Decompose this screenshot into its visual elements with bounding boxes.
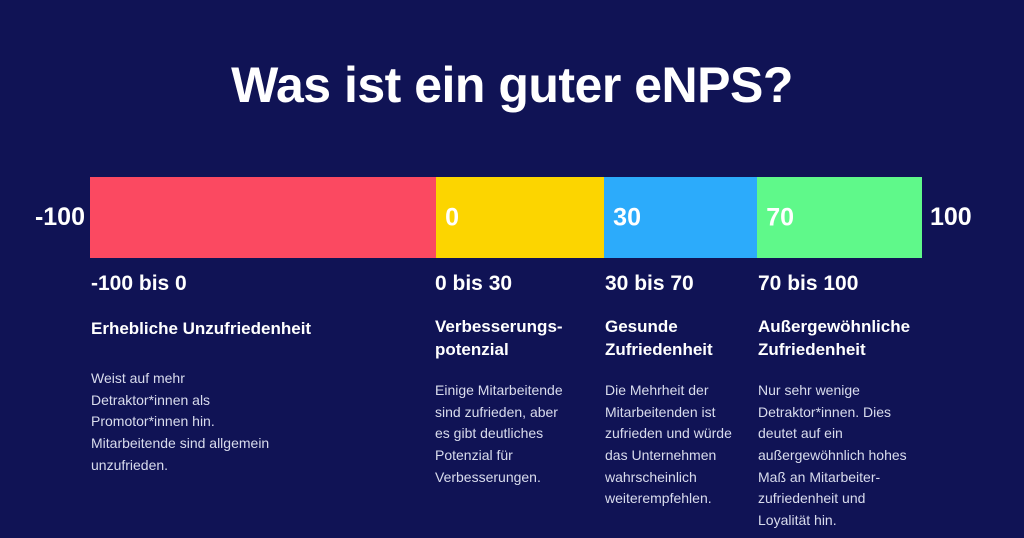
scale-segment-healthy: 30 xyxy=(604,177,757,258)
column-heading-2: GesundeZufriedenheit xyxy=(605,316,755,362)
scale-segment-label-1: 0 xyxy=(445,205,459,230)
column-range-0: -100 bis 0 xyxy=(91,272,421,295)
column-body-3: Nur sehr wenigeDetraktor*innen. Diesdeut… xyxy=(758,380,943,532)
enps-infographic: Was ist ein guter eNPS? -100 0 30 70 100… xyxy=(0,0,1024,538)
scale-segment-label-3: 70 xyxy=(766,205,794,230)
column-body-1: Einige Mitarbeitendesind zufrieden, aber… xyxy=(435,380,595,488)
range-column-detractors: -100 bis 0 Erhebliche Unzufriedenheit We… xyxy=(91,272,421,476)
scale-segment-exceptional: 70 xyxy=(757,177,922,258)
page-title: Was ist ein guter eNPS? xyxy=(0,58,1024,113)
column-range-2: 30 bis 70 xyxy=(605,272,755,295)
column-body-0: Weist auf mehrDetraktor*innen alsPromoto… xyxy=(91,368,421,476)
column-heading-3: AußergewöhnlicheZufriedenheit xyxy=(758,316,943,362)
enps-scale-bar: 0 30 70 xyxy=(90,177,922,258)
scale-segment-improvement: 0 xyxy=(436,177,604,258)
column-body-2: Die Mehrheit derMitarbeitenden istzufrie… xyxy=(605,380,755,510)
scale-segment-detractors xyxy=(90,177,436,258)
scale-min-label: -100 xyxy=(35,177,85,258)
range-column-exceptional: 70 bis 100 AußergewöhnlicheZufriedenheit… xyxy=(758,272,943,532)
column-heading-1: Verbesserungs-potenzial xyxy=(435,316,595,362)
range-column-healthy: 30 bis 70 GesundeZufriedenheit Die Mehrh… xyxy=(605,272,755,510)
column-range-3: 70 bis 100 xyxy=(758,272,943,295)
scale-max-label: 100 xyxy=(930,177,972,258)
range-column-improvement: 0 bis 30 Verbesserungs-potenzial Einige … xyxy=(435,272,595,488)
column-heading-0: Erhebliche Unzufriedenheit xyxy=(91,318,421,341)
scale-segment-label-2: 30 xyxy=(613,205,641,230)
column-range-1: 0 bis 30 xyxy=(435,272,595,295)
